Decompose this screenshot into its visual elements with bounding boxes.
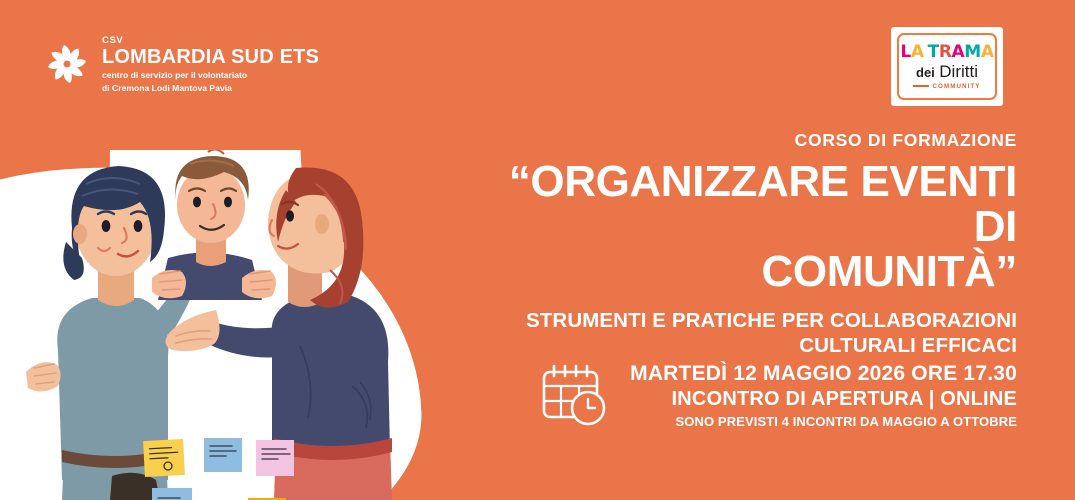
trama-letter: T xyxy=(928,44,939,61)
csv-name: LOMBARDIA SUD ETS xyxy=(102,47,319,67)
csv-subtitle-line1: centro di servizio per il volontariato xyxy=(102,70,319,81)
csv-lombardia-sud-logo: CSV LOMBARDIA SUD ETS centro di servizio… xyxy=(42,34,319,94)
event-date: MARTEDÌ 12 MAGGIO 2026 ORE 17.30 xyxy=(630,362,1017,387)
la-trama-dei-diritti-logo: LATRAMA dei Diritti COMMUNITY xyxy=(891,27,1003,106)
promo-banner: CSV LOMBARDIA SUD ETS centro di servizio… xyxy=(0,0,1075,500)
sticky-note-blue-1 xyxy=(204,438,242,472)
trama-wordmark: LATRAMA xyxy=(900,44,993,61)
headline-line-1: “ORGANIZZARE EVENTI DI xyxy=(477,159,1017,250)
event-mode: INCONTRO DI APERTURA | ONLINE xyxy=(630,387,1017,411)
calendar-clock-icon xyxy=(540,363,608,429)
event-note: SONO PREVISTI 4 INCONTRI DA MAGGIO A OTT… xyxy=(630,414,1017,430)
trama-letter: A xyxy=(981,44,994,61)
trama-letter: M xyxy=(964,44,981,61)
event-details-block: MARTEDÌ 12 MAGGIO 2026 ORE 17.30 INCONTR… xyxy=(540,362,1017,430)
illustration-people-sticky-notes xyxy=(0,150,430,500)
trama-diritti: Diritti xyxy=(939,62,978,81)
trama-community-label: COMMUNITY xyxy=(932,83,980,90)
subheadline-line-1: STRUMENTI E PRATICHE PER COLLABORAZIONI xyxy=(477,309,1017,334)
trama-subtitle: dei Diritti xyxy=(916,63,978,81)
trama-dei: dei xyxy=(916,65,935,80)
trama-letter: L xyxy=(900,44,910,61)
divider-line xyxy=(913,85,929,87)
trama-letter: R xyxy=(939,44,952,61)
sticky-note-pink-1 xyxy=(256,440,294,476)
csv-acronym: CSV xyxy=(102,36,319,46)
headline-line-2: COMUNITÀ” xyxy=(477,249,1017,294)
csv-subtitle-line2: di Cremona Lodi Mantova Pavia xyxy=(102,83,319,94)
trama-community-row: COMMUNITY xyxy=(913,83,980,90)
trama-letter: A xyxy=(911,44,924,61)
subheadline-line-2: CULTURALI EFFICACI xyxy=(477,334,1017,359)
kicker-text: CORSO DI FORMAZIONE xyxy=(477,132,1017,150)
trama-letter: A xyxy=(952,44,965,61)
headline-block: CORSO DI FORMAZIONE “ORGANIZZARE EVENTI … xyxy=(477,132,1017,359)
pinwheel-flower-icon xyxy=(42,38,92,90)
sticky-note-yellow-1 xyxy=(143,439,185,477)
